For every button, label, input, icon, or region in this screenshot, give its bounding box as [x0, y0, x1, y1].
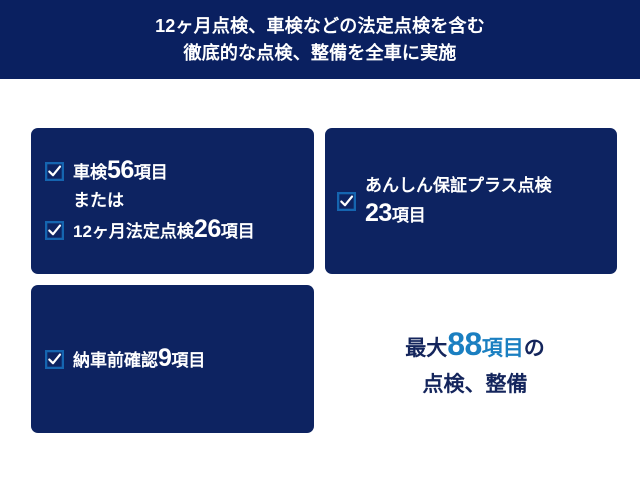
- summary-line-1: 最大88項目の: [330, 327, 620, 368]
- checkbox-checked-icon: [45, 350, 64, 369]
- header-banner: 12ヶ月点検、車検などの法定点検を含む 徹底的な点検、整備を全車に実施: [0, 0, 640, 79]
- card-warranty-plus: あんしん保証プラス点検 23項目: [325, 128, 617, 274]
- inspection-row-shaken-group: 車検56項目: [73, 158, 168, 185]
- summary-subtitle: 点検、整備: [423, 373, 528, 396]
- inspection-row-legal-group: 12ヶ月法定点検26項目: [73, 217, 255, 244]
- inspection-legal-unit: 項目: [221, 222, 255, 241]
- predelivery-number: 9: [158, 344, 171, 372]
- card-predelivery-check: 納車前確認9項目: [31, 285, 314, 433]
- checkbox-checked-icon: [45, 162, 64, 181]
- warranty-title: あんしん保証プラス点検: [365, 171, 552, 201]
- summary-suffix: の: [524, 337, 545, 360]
- inspection-shaken-number: 56: [107, 156, 134, 184]
- predelivery-text-group: 納車前確認9項目: [73, 346, 205, 373]
- inspection-legal-label: 12ヶ月法定点検: [73, 222, 194, 241]
- predelivery-label: 納車前確認: [73, 351, 158, 370]
- predelivery-unit: 項目: [171, 351, 205, 370]
- warranty-unit: 項目: [392, 206, 426, 225]
- card-inspection-items: 車検56項目 または 12ヶ月法定点検26項目: [31, 128, 314, 274]
- inspection-row-or: または: [45, 189, 300, 213]
- warranty-number: 23: [365, 199, 392, 227]
- summary-line-2: 点検、整備: [330, 368, 620, 404]
- warranty-count-line: 23項目: [365, 201, 552, 232]
- inspection-shaken-label: 車検: [73, 163, 107, 182]
- summary-prefix: 最大: [405, 337, 447, 360]
- warranty-text-block: あんしん保証プラス点検 23項目: [365, 171, 552, 232]
- inspection-or-label: または: [73, 189, 124, 213]
- header-line-2: 徹底的な点検、整備を全車に実施: [184, 40, 457, 67]
- inspection-row-legal: 12ヶ月法定点検26項目: [45, 217, 300, 244]
- inspection-shaken-unit: 項目: [134, 163, 168, 182]
- inspection-legal-number: 26: [194, 215, 221, 243]
- header-line-1: 12ヶ月点検、車検などの法定点検を含む: [155, 13, 485, 40]
- poster-root: 12ヶ月点検、車検などの法定点検を含む 徹底的な点検、整備を全車に実施 車検56…: [0, 0, 640, 480]
- inspection-row-shaken: 車検56項目: [45, 158, 300, 185]
- checkbox-checked-icon: [337, 192, 356, 211]
- checkbox-checked-icon: [45, 221, 64, 240]
- summary-number: 88: [447, 326, 482, 362]
- summary-block: 最大88項目の 点検、整備: [330, 327, 620, 404]
- summary-unit: 項目: [482, 337, 524, 360]
